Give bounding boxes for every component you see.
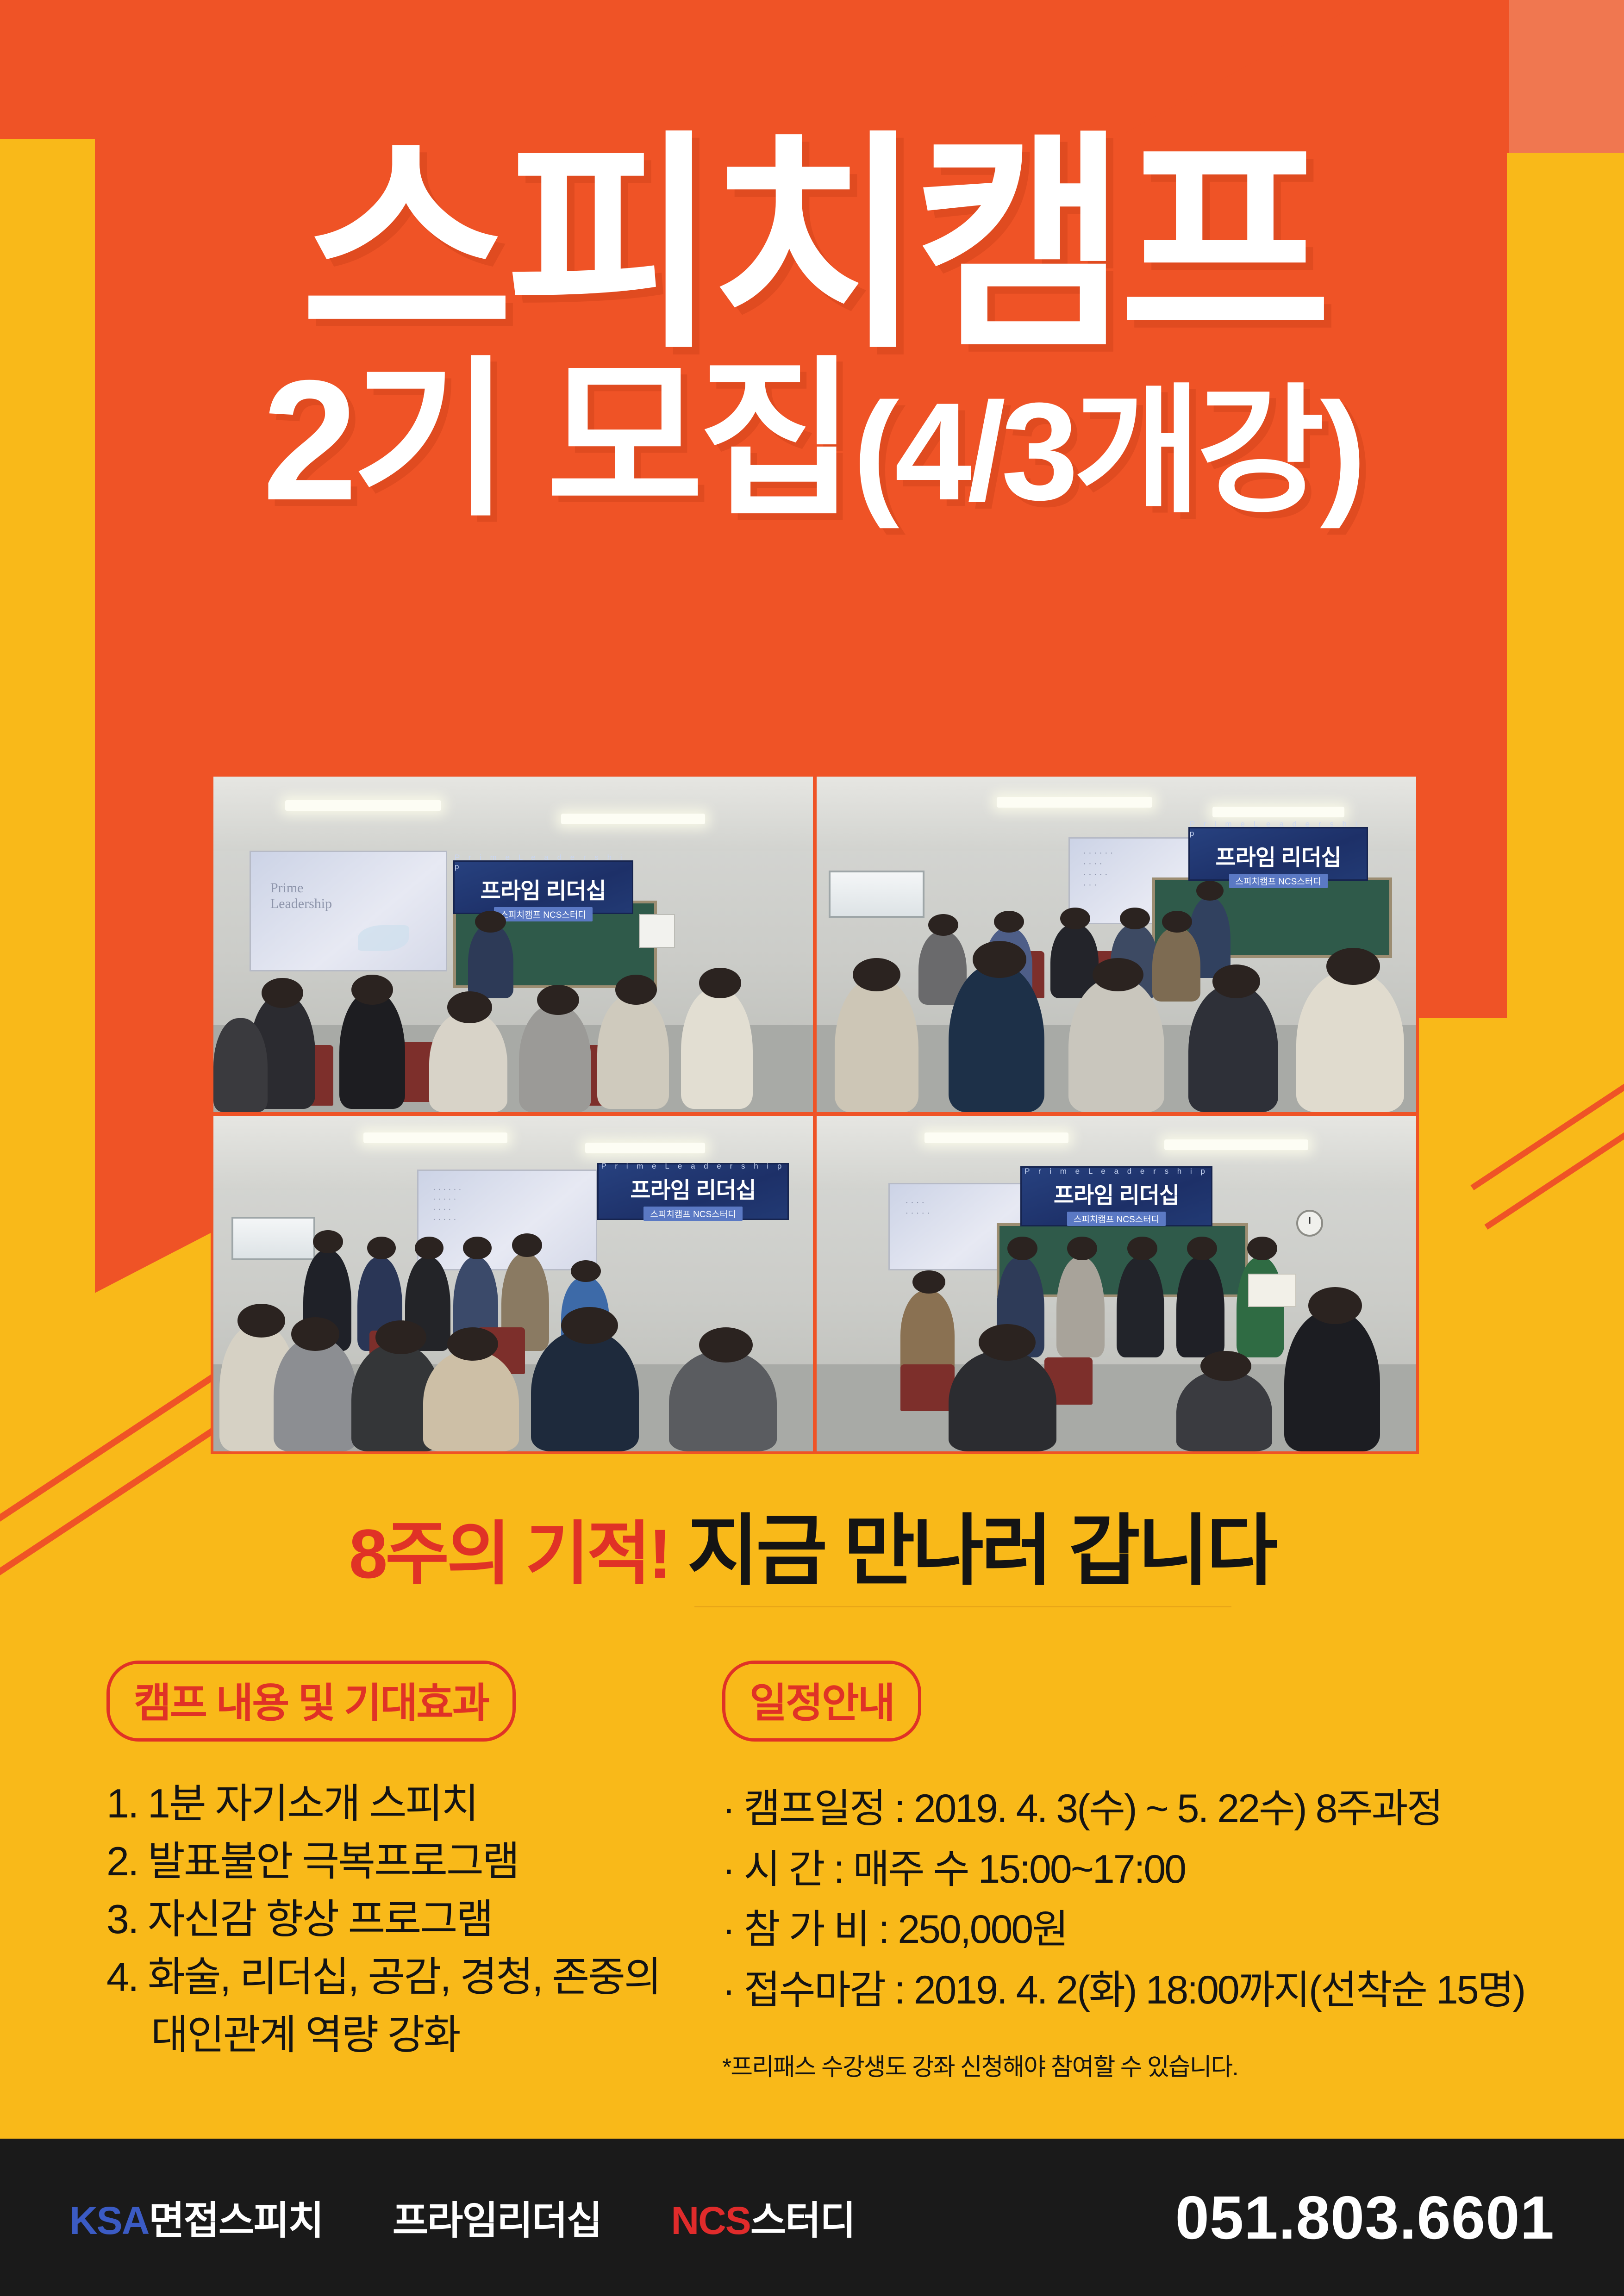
- list-item-text: 2. 발표불안 극복프로그램: [106, 1838, 518, 1884]
- schedule-row-time: · 시 간 : 매주 수 15:00~17:00: [722, 1839, 1569, 1900]
- headline-line-2: 2기 모집: [262, 362, 850, 519]
- photo-4-banner-main: 프라임 리더십: [1054, 1177, 1179, 1209]
- footer-phone-number[interactable]: 051.803.6601: [1175, 2183, 1555, 2252]
- badge-camp-content: 캠프 내용 및 기대효과: [106, 1661, 516, 1742]
- list-item: 1. 1분 자기소개 스피치: [106, 1775, 685, 1833]
- photo-3-banner-main: 프라임 리더십: [630, 1172, 756, 1204]
- list-item-continuation: 대인관계 역량 강화: [106, 2006, 685, 2064]
- poster-tagline: 8주의 기적! 지금 만나러 갑니다: [0, 1488, 1624, 1600]
- photo-4-banner-sub: 스피치캠프 NCS스터디: [1067, 1212, 1166, 1226]
- headline-line-2-row: 2기 모집 (4/3개강): [0, 362, 1624, 519]
- schedule-row-dates: · 캠프일정 : 2019. 4. 3(수) ~ 5. 22수) 8주과정: [722, 1779, 1569, 1839]
- brand-ksa: KSA면접스피치: [69, 2190, 323, 2246]
- schedule-footnote: *프리패스 수강생도 강좌 신청해야 참여할 수 있습니다.: [722, 2047, 1569, 2082]
- brand-ncs-label: 스터디: [750, 2199, 855, 2242]
- photo-2-banner-main: 프라임 리더십: [1215, 839, 1341, 871]
- tagline-highlight: 8주의 기적!: [349, 1515, 669, 1593]
- photo-3-banner-top: P r i m e L e a d e r s h i p: [601, 1162, 785, 1171]
- column-camp-content: 캠프 내용 및 기대효과 1. 1분 자기소개 스피치 2. 발표불안 극복프로…: [106, 1661, 685, 2064]
- camp-content-list: 1. 1분 자기소개 스피치 2. 발표불안 극복프로그램 3. 자신감 향상 …: [106, 1775, 685, 2064]
- brand-prime-label: 프라임리더십: [393, 2199, 602, 2242]
- list-item: 2. 발표불안 극복프로그램: [106, 1833, 685, 1891]
- photo-team-activity: · · · ·· · · · · P r i m e L e a d e r s…: [817, 1116, 1416, 1451]
- tagline-divider: [694, 1606, 1231, 1607]
- column-schedule: 일정안내 · 캠프일정 : 2019. 4. 3(수) ~ 5. 22수) 8주…: [722, 1661, 1569, 2082]
- schedule-info-list: · 캠프일정 : 2019. 4. 3(수) ~ 5. 22수) 8주과정 · …: [722, 1779, 1569, 2082]
- photo-1-banner-main: 프라임 리더십: [481, 872, 606, 905]
- photo-grid: PrimeLeadership P r i m e L e a d e r s …: [211, 774, 1419, 1454]
- photo-1-banner-sub: 스피치캠프 NCS스터디: [494, 907, 593, 921]
- brand-ncs-accent: NCS: [671, 2199, 750, 2242]
- photo-1-banner-top: P r i m e L e a d e r s h i p: [455, 853, 632, 871]
- poster-root: 스피치캠프 2기 모집 (4/3개강) PrimeLeadership P r …: [0, 0, 1624, 2296]
- brand-ksa-label: 면접스피치: [149, 2199, 323, 2242]
- list-item: 3. 자신감 향상 프로그램: [106, 1891, 685, 1948]
- content-columns: 캠프 내용 및 기대효과 1. 1분 자기소개 스피치 2. 발표불안 극복프로…: [0, 1661, 1624, 2077]
- list-item-text: 3. 자신감 향상 프로그램: [106, 1896, 492, 1942]
- photo-lecture-1: PrimeLeadership P r i m e L e a d e r s …: [213, 777, 813, 1112]
- photo-circle-discussion: · · · · · ·· · · ·· · · · ·· · · P r i m…: [817, 777, 1416, 1112]
- photo-3-banner-sub: 스피치캠프 NCS스터디: [643, 1207, 742, 1221]
- list-item: 4. 화술, 리더십, 공감, 경청, 존중의 대인관계 역량 강화: [106, 1948, 685, 2064]
- list-item-text: 1. 1분 자기소개 스피치: [106, 1780, 477, 1826]
- brand-prime-leadership: 프라임리더십: [393, 2190, 602, 2246]
- photo-2-banner-top: P r i m e L e a d e r s h i p: [1190, 820, 1367, 838]
- schedule-row-deadline: · 접수마감 : 2019. 4. 2(화) 18:00까지(선착순 15명): [722, 1960, 1569, 2021]
- footer-brand-list: KSA면접스피치 프라임리더십 NCS스터디: [69, 2190, 855, 2246]
- poster-footer: KSA면접스피치 프라임리더십 NCS스터디 051.803.6601: [0, 2139, 1624, 2296]
- badge-schedule: 일정안내: [722, 1661, 921, 1742]
- brand-ksa-accent: KSA: [69, 2199, 149, 2242]
- list-item-text: 4. 화술, 리더십, 공감, 경청, 존중의: [106, 1954, 660, 2000]
- brand-ncs-study: NCS스터디: [671, 2190, 855, 2246]
- tagline-rest: 지금 만나러 갑니다: [687, 1507, 1275, 1594]
- poster-headline: 스피치캠프 2기 모집 (4/3개강): [0, 139, 1624, 519]
- headline-start-date: (4/3개강): [853, 387, 1362, 515]
- photo-group-presentation: · · · · · ·· · · · ·· · · ·· · · · · P r…: [213, 1116, 813, 1451]
- photo-4-banner-top: P r i m e L e a d e r s h i p: [1024, 1167, 1208, 1176]
- headline-line-1: 스피치캠프: [0, 139, 1624, 352]
- photo-2-banner-sub: 스피치캠프 NCS스터디: [1229, 874, 1328, 888]
- schedule-row-fee: · 참 가 비 : 250,000원: [722, 1899, 1569, 1960]
